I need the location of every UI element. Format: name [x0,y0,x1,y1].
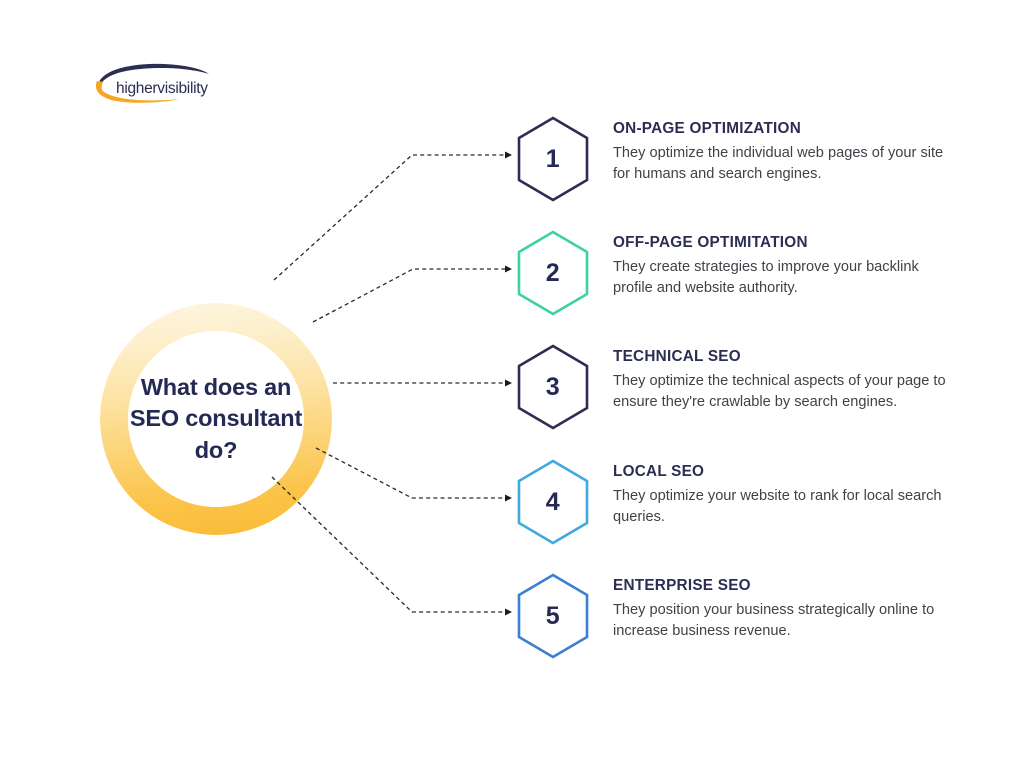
hexagon-number-4: 4 [513,458,593,546]
item-title-4: LOCAL SEO [613,464,953,481]
connector-4 [316,448,505,498]
item-description-2: They create strategies to improve your b… [613,257,953,299]
connector-3-arrowhead [505,380,512,387]
center-node: What does an SEO consultant do? [100,303,332,535]
highervisibility-logo: highervisibility [90,62,212,108]
item-description-4: They optimize your website to rank for l… [613,486,953,528]
hexagon-number-2: 2 [513,229,593,317]
item-title-3: TECHNICAL SEO [613,349,953,366]
item-title-1: ON-PAGE OPTIMIZATION [613,121,953,138]
logo-wordmark: highervisibility [116,80,208,97]
hexagon-number-3: 3 [513,343,593,431]
connector-2 [313,269,505,322]
connector-2-arrowhead [505,266,512,273]
item-description-1: They optimize the individual web pages o… [613,143,953,185]
item-text-block-5: ENTERPRISE SEO They position your busine… [613,578,953,642]
item-description-5: They position your business strategicall… [613,600,953,642]
hexagon-number-1: 1 [513,115,593,203]
connector-5-arrowhead [505,609,512,616]
list-item[interactable]: 4 LOCAL SEO They optimize your website t… [513,455,953,551]
item-text-block-1: ON-PAGE OPTIMIZATION They optimize the i… [613,121,953,185]
item-title-2: OFF-PAGE OPTIMITATION [613,235,953,252]
list-item[interactable]: 5 ENTERPRISE SEO They position your busi… [513,569,953,665]
item-text-block-4: LOCAL SEO They optimize your website to … [613,464,953,528]
list-item[interactable]: 2 OFF-PAGE OPTIMITATION They create stra… [513,226,953,322]
connector-1-arrowhead [505,152,512,159]
list-item[interactable]: 3 TECHNICAL SEO They optimize the techni… [513,340,953,436]
item-description-3: They optimize the technical aspects of y… [613,371,953,413]
connector-1 [274,155,505,280]
item-text-block-2: OFF-PAGE OPTIMITATION They create strate… [613,235,953,299]
list-item[interactable]: 1 ON-PAGE OPTIMIZATION They optimize the… [513,112,953,208]
item-text-block-3: TECHNICAL SEO They optimize the technica… [613,349,953,413]
hexagon-number-5: 5 [513,572,593,660]
item-title-5: ENTERPRISE SEO [613,578,953,595]
page-title: What does an SEO consultant do? [100,303,332,535]
connector-4-arrowhead [505,495,512,502]
